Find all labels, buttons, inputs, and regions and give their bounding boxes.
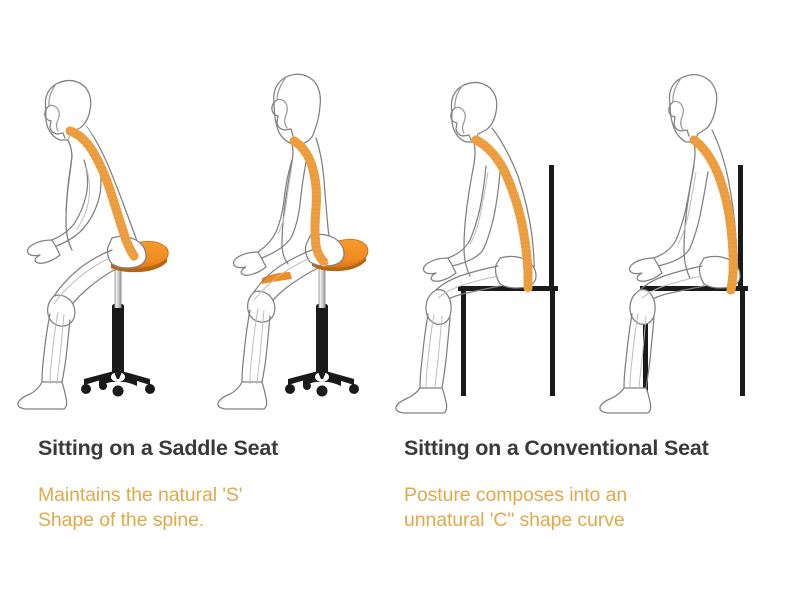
figure-conventional-leaning-back bbox=[600, 75, 748, 413]
ergonomics-infographic: Sitting on a Saddle Seat Maintains the n… bbox=[0, 0, 800, 600]
stool-base-1 bbox=[81, 366, 155, 397]
panel-conventional-subtext-line-1: Posture composes into an bbox=[404, 483, 784, 508]
body-outline-4 bbox=[600, 75, 740, 413]
stool-gas-lift-1 bbox=[112, 304, 124, 370]
panel-conventional-subtext-line-2: unnatural 'C" shape curve bbox=[404, 508, 784, 533]
figures-illustration-area bbox=[0, 0, 800, 425]
panel-saddle-subtext-line-1: Maintains the natural 'S' bbox=[38, 483, 388, 508]
stool-column-2 bbox=[319, 264, 326, 308]
panel-conventional-heading: Sitting on a Conventional Seat bbox=[404, 425, 784, 461]
captions-area: Sitting on a Saddle Seat Maintains the n… bbox=[0, 425, 800, 600]
figure-saddle-upright bbox=[218, 74, 368, 409]
panel-conventional-caption: Sitting on a Conventional Seat Posture c… bbox=[404, 425, 784, 533]
stool-base-2 bbox=[285, 366, 359, 397]
figure-conventional-slouching bbox=[396, 82, 558, 413]
panel-saddle-caption: Sitting on a Saddle Seat Maintains the n… bbox=[38, 425, 388, 533]
panel-conventional-subtext: Posture composes into an unnatural 'C" s… bbox=[404, 461, 784, 533]
panel-saddle-subtext-line-2: Shape of the spine. bbox=[38, 508, 388, 533]
stool-column-1 bbox=[115, 266, 122, 308]
figure-saddle-leaning bbox=[18, 80, 168, 409]
panel-saddle-subtext: Maintains the natural 'S' Shape of the s… bbox=[38, 461, 388, 533]
panel-saddle-heading: Sitting on a Saddle Seat bbox=[38, 425, 388, 461]
stool-gas-lift-2 bbox=[316, 304, 328, 370]
